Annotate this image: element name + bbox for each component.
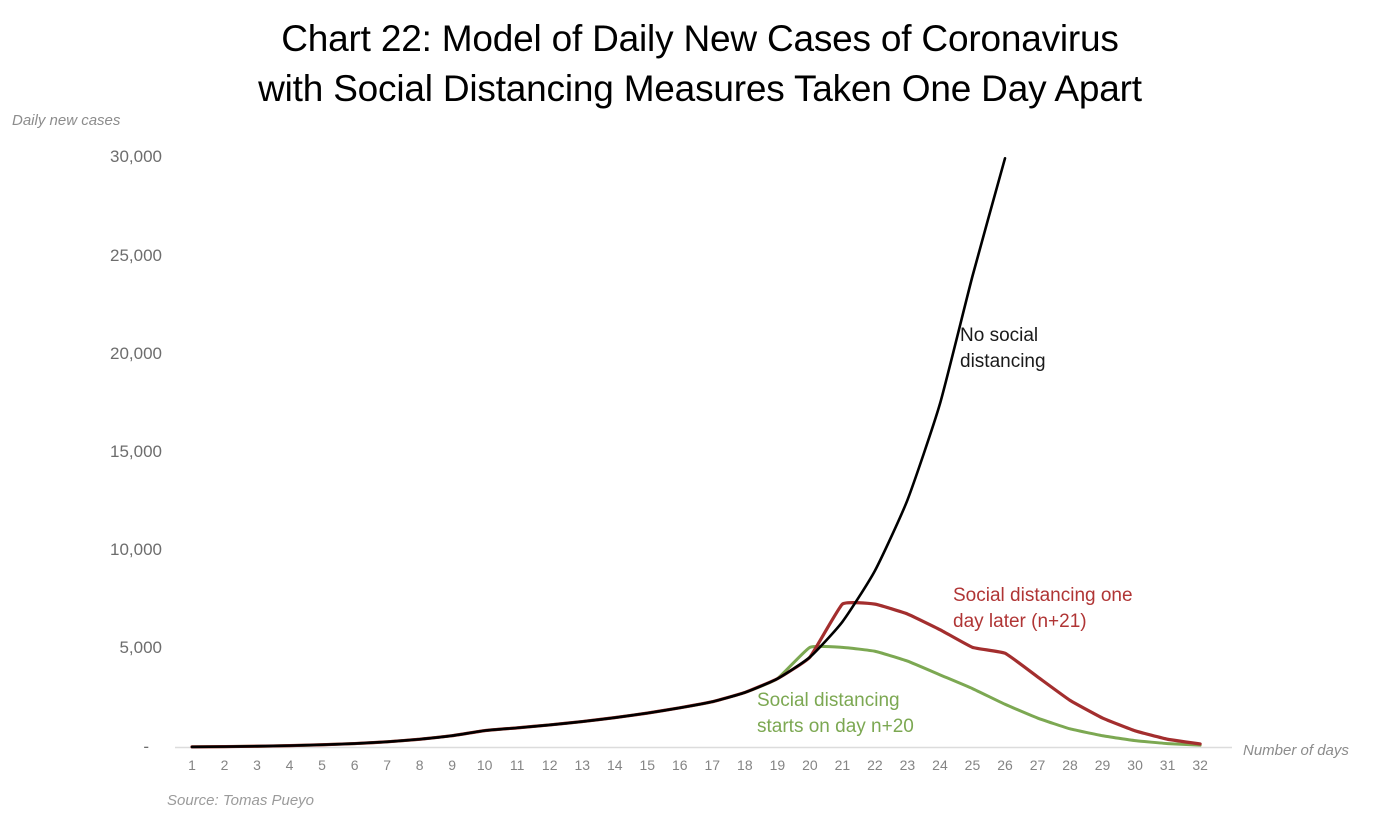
plot-area bbox=[0, 0, 1400, 840]
series-line-no-social-distancing bbox=[192, 158, 1005, 747]
annotation-starts-day-n20: Social distancing starts on day n+20 bbox=[757, 688, 914, 740]
annotation-no-social-distancing: No social distancing bbox=[960, 323, 1046, 375]
source-note: Source: Tomas Pueyo bbox=[167, 792, 314, 809]
chart-canvas: Chart 22: Model of Daily New Cases of Co… bbox=[0, 0, 1400, 840]
annotation-one-day-later: Social distancing one day later (n+21) bbox=[953, 583, 1133, 635]
series-line-starts-day-n20 bbox=[192, 646, 1200, 747]
